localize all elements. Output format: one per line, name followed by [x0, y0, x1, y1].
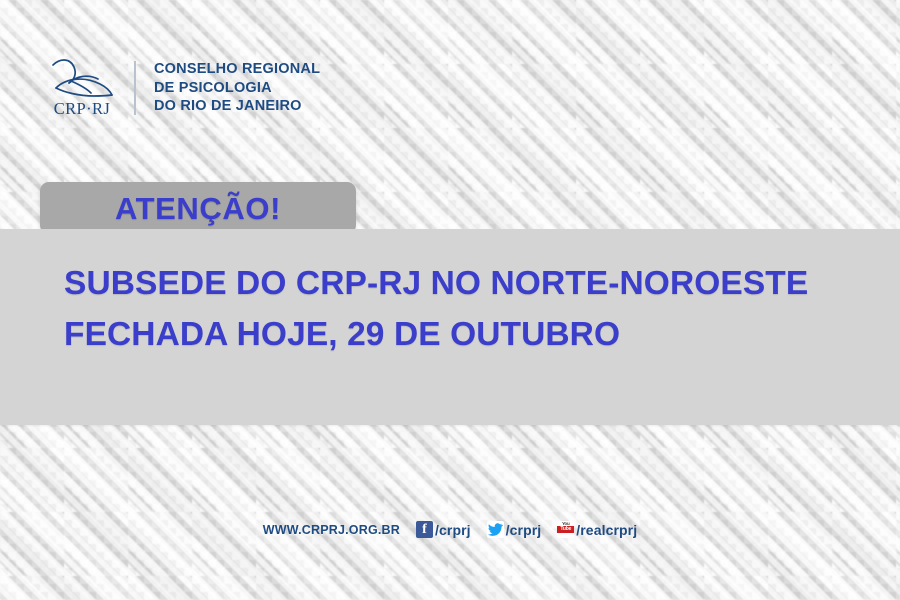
- org-line-2: DE PSICOLOGIA: [154, 79, 320, 98]
- social-link-youtube[interactable]: You Tube /realcrprj: [557, 521, 637, 538]
- poster-canvas: CRP·RJ CONSELHO REGIONAL DE PSICOLOGIA D…: [0, 0, 900, 600]
- facebook-icon[interactable]: f: [416, 521, 433, 538]
- twitter-icon[interactable]: [487, 521, 504, 538]
- logo-divider: [134, 61, 136, 115]
- org-line-3: DO RIO DE JANEIRO: [154, 97, 320, 116]
- social-link-facebook[interactable]: f /crprj: [416, 521, 471, 538]
- svg-text:CRP·RJ: CRP·RJ: [54, 99, 111, 118]
- youtube-handle: /realcrprj: [576, 522, 637, 538]
- headline-line-2: FECHADA HOJE, 29 DE OUTUBRO: [64, 309, 874, 360]
- facebook-glyph: f: [422, 523, 427, 537]
- organization-name: CONSELHO REGIONAL DE PSICOLOGIA DO RIO D…: [154, 60, 320, 116]
- bird-book-logo-icon: CRP·RJ: [44, 52, 120, 124]
- headline-text: SUBSEDE DO CRP-RJ NO NORTE-NOROESTE FECH…: [64, 258, 874, 360]
- attention-label: ATENÇÃO!: [40, 183, 356, 235]
- org-line-1: CONSELHO REGIONAL: [154, 60, 320, 79]
- social-link-twitter[interactable]: /crprj: [487, 521, 542, 538]
- headline-line-1: SUBSEDE DO CRP-RJ NO NORTE-NOROESTE: [64, 258, 874, 309]
- website-url[interactable]: WWW.CRPRJ.ORG.BR: [263, 523, 400, 537]
- youtube-glyph-bottom: Tube: [557, 526, 574, 533]
- twitter-handle: /crprj: [506, 522, 542, 538]
- youtube-icon[interactable]: You Tube: [557, 521, 574, 538]
- header-logo-block: CRP·RJ CONSELHO REGIONAL DE PSICOLOGIA D…: [44, 52, 320, 124]
- facebook-handle: /crprj: [435, 522, 471, 538]
- footer-bar: WWW.CRPRJ.ORG.BR f /crprj /crprj You Tub…: [0, 521, 900, 538]
